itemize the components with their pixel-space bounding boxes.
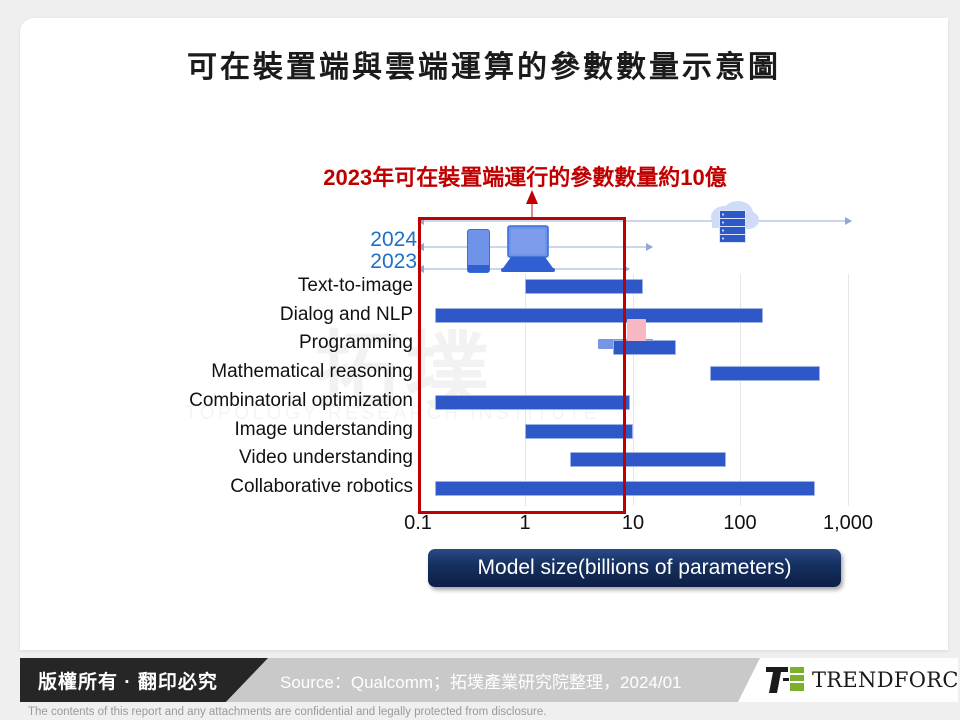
smartphone-icon — [467, 229, 490, 273]
callout-annotation-text: 2023年可在裝置端運行的參數數量約10億 — [175, 160, 875, 192]
x-tick: 1,000 — [823, 512, 873, 535]
axis-title-label: Model size(billions of parameters) — [478, 556, 792, 580]
footer-copyright-block: 版權所有 · 翻印必究 — [20, 658, 268, 702]
x-tick: 0.1 — [404, 512, 432, 535]
x-tick: 10 — [622, 512, 644, 535]
bar-collaborative-robotics — [435, 481, 815, 496]
category-label: Video understanding — [239, 447, 413, 469]
category-label: Programming — [299, 332, 413, 354]
category-label: Text-to-image — [298, 275, 413, 297]
bar-image-understanding — [525, 424, 633, 439]
category-label: Image understanding — [234, 419, 413, 441]
trendforce-logo-icon — [766, 667, 806, 693]
category-label: Mathematical reasoning — [211, 361, 413, 383]
bar-mathematical-reasoning — [710, 366, 820, 381]
disclaimer-text: The contents of this report and any atta… — [28, 706, 546, 718]
gridline — [418, 274, 419, 506]
x-tick: 1 — [519, 512, 530, 535]
category-label: Dialog and NLP — [280, 304, 413, 326]
category-label: Collaborative robotics — [230, 476, 413, 498]
page-title: 可在裝置端與雲端運算的參數數量示意圖 — [20, 42, 948, 86]
category-label: Combinatorial optimization — [189, 390, 413, 412]
bar-programming — [613, 340, 676, 355]
trendforce-logo-text: TRENDFORCE — [812, 668, 960, 692]
bar-dialog-and-nlp — [435, 308, 763, 323]
bar-video-understanding — [570, 452, 726, 467]
laptop-icon — [500, 224, 556, 274]
slide-card: 可在裝置端與雲端運算的參數數量示意圖 拓墣 TOPOLOGY RESEARCH … — [20, 18, 948, 650]
x-tick: 100 — [723, 512, 756, 535]
year-label-2024: 2024 — [347, 228, 417, 252]
category-axis-labels: Text-to-image Dialog and NLP Programming… — [20, 274, 413, 506]
bar-text-to-image — [525, 279, 643, 294]
copyright-label: 版權所有 · 翻印必究 — [38, 667, 218, 694]
year-label-2023: 2023 — [347, 250, 417, 274]
programming-highlight-marker — [627, 319, 646, 341]
trendforce-logo: TRENDFORCE — [738, 658, 958, 702]
footer: 版權所有 · 翻印必究 Source：Qualcomm；拓墣產業研究院整理，20… — [0, 650, 960, 720]
cloud-server-icon — [704, 200, 760, 248]
gridline — [848, 274, 849, 506]
top-flow-arrow-line — [773, 220, 851, 222]
bar-combinatorial-optimization — [435, 395, 630, 410]
x-axis-tick-labels: 0.1 1 10 100 1,000 — [418, 512, 874, 540]
source-label: Source：Qualcomm；拓墣產業研究院整理，2024/01 — [280, 658, 682, 702]
chart-plot-area — [418, 274, 874, 506]
axis-title-banner: Model size(billions of parameters) — [428, 549, 841, 587]
